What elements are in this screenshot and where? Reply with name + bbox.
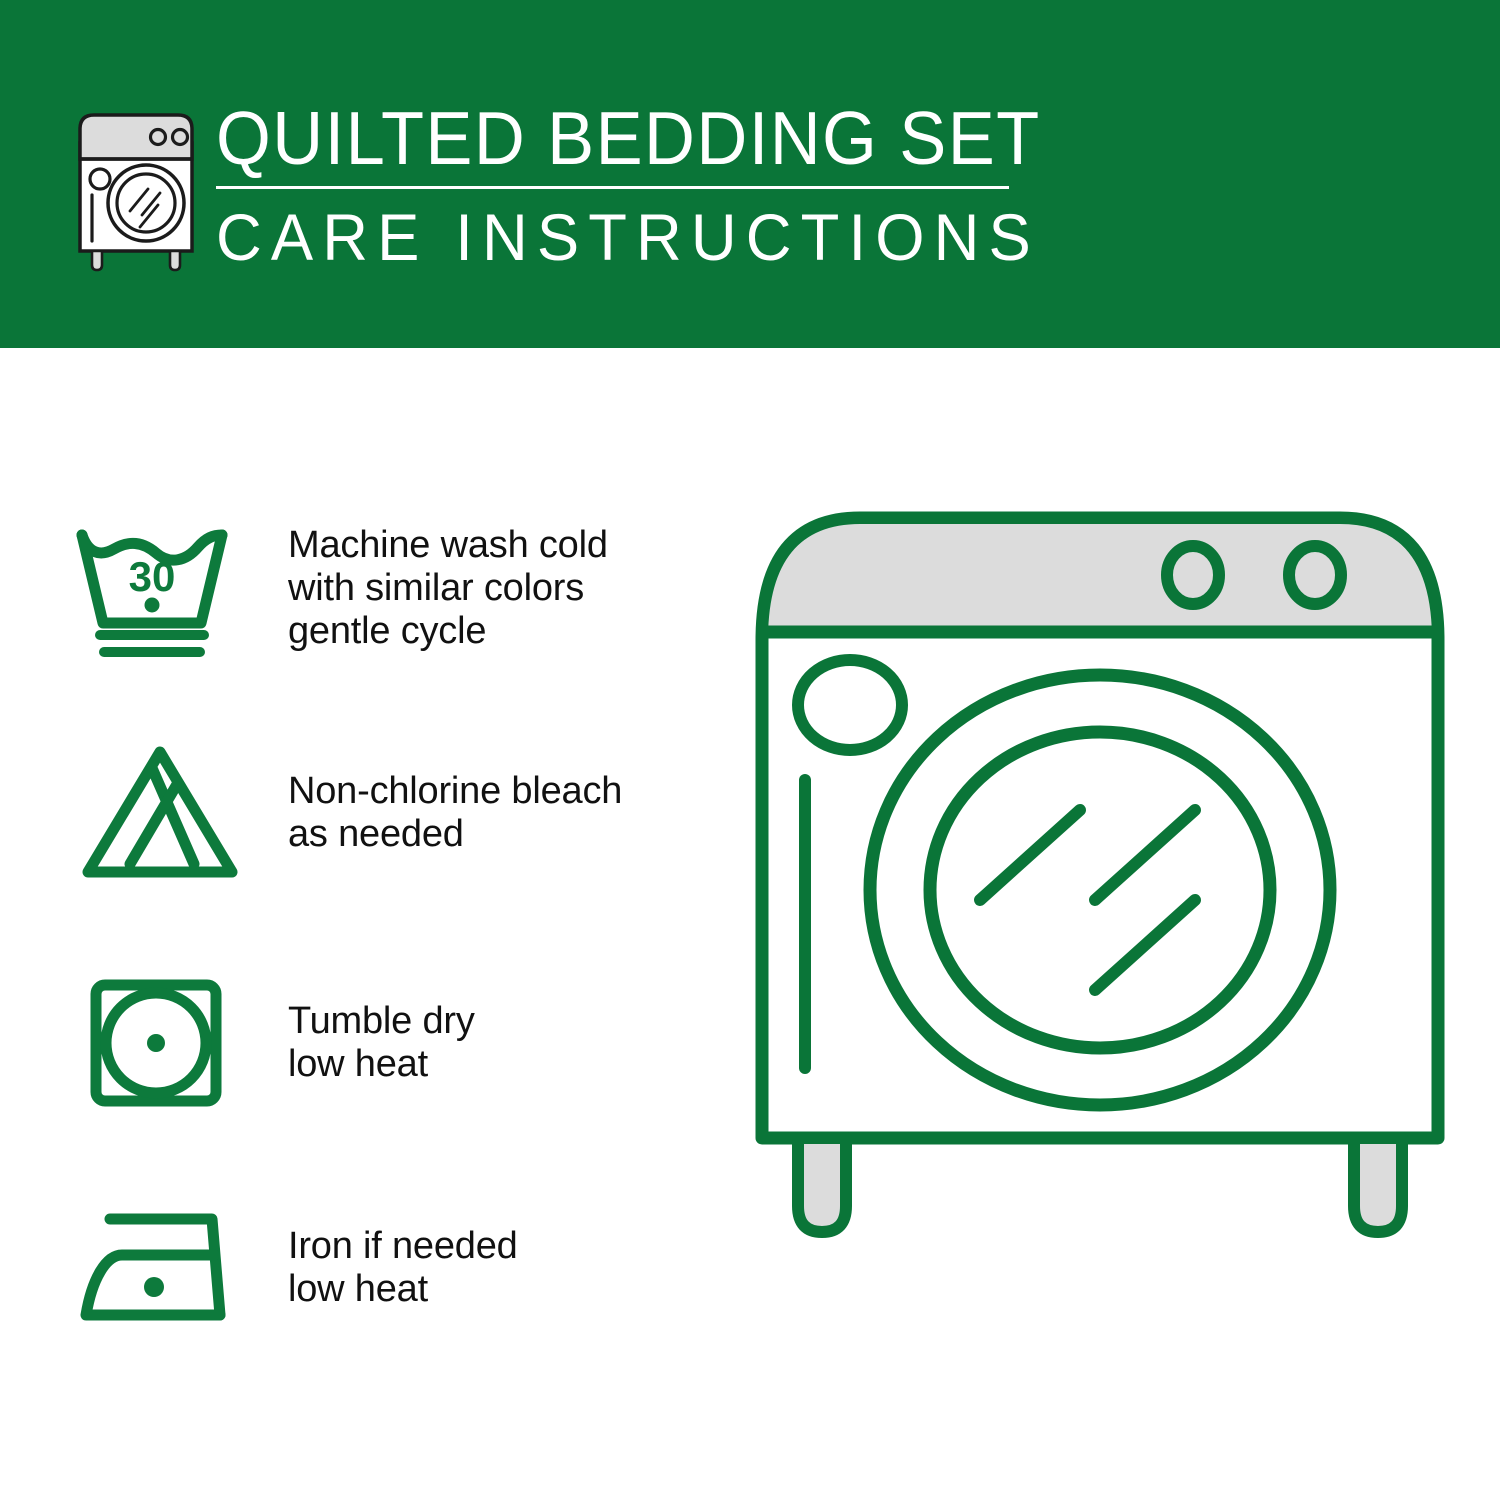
tumble-dry-low-heat-icon <box>60 963 260 1123</box>
header-title-block: QUILTED BEDDING SET CARE INSTRUCTIONS <box>216 96 1016 275</box>
care-row-tumble-dry: Tumble dry low heat <box>0 963 730 1123</box>
page-subtitle: CARE INSTRUCTIONS <box>216 199 984 275</box>
care-text-bleach: Non-chlorine bleach as needed <box>288 770 622 856</box>
care-row-bleach: Non-chlorine bleach as needed <box>0 733 730 893</box>
washing-machine-icon <box>62 103 210 273</box>
care-row-iron: Iron if needed low heat <box>0 1188 730 1348</box>
washer-leg-right <box>1354 1138 1402 1232</box>
care-row-machine-wash: 30 Machine wash cold with similar colors… <box>0 508 730 668</box>
care-instructions-page: QUILTED BEDDING SET CARE INSTRUCTIONS 30 <box>0 0 1500 1500</box>
triangle-non-chlorine-bleach-icon <box>60 733 260 893</box>
wash-basin-30-gentle-icon: 30 <box>60 508 260 668</box>
washing-machine-illustration <box>740 490 1460 1430</box>
care-text-machine-wash: Machine wash cold with similar colors ge… <box>288 524 608 653</box>
header-banner: QUILTED BEDDING SET CARE INSTRUCTIONS <box>0 0 1500 348</box>
care-text-tumble-dry: Tumble dry low heat <box>288 1000 475 1086</box>
washer-leg-left <box>798 1138 846 1232</box>
care-instruction-list: 30 Machine wash cold with similar colors… <box>0 348 730 1500</box>
iron-low-heat-icon <box>60 1188 260 1348</box>
wash-temperature-label: 30 <box>129 553 176 600</box>
care-text-iron: Iron if needed low heat <box>288 1225 518 1311</box>
title-divider <box>216 186 1009 189</box>
page-title: QUILTED BEDDING SET <box>216 96 968 180</box>
